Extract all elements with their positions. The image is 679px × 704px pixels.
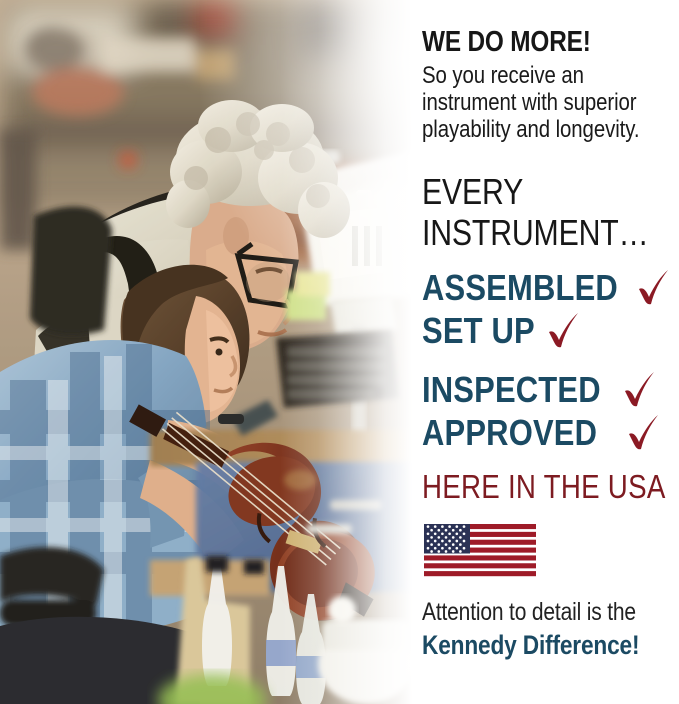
checklist-label-approved: APPROVED (422, 415, 597, 451)
every-instrument-line2: INSTRUMENT… (422, 215, 649, 251)
footer-line-attention: Attention to detail is the (422, 600, 636, 625)
headline-body-text: So you receive an instrument with superi… (422, 62, 679, 143)
check-mark-icon (622, 370, 656, 408)
checklist-label-inspected: INSPECTED (422, 372, 601, 408)
check-mark-icon (626, 413, 660, 451)
workshop-photo-illustration (0, 0, 430, 704)
every-instrument-line1: EVERY (422, 174, 523, 210)
headline-we-do-more: WE DO MORE! (422, 28, 591, 57)
footer-line-kennedy-difference: Kennedy Difference! (422, 632, 639, 659)
marketing-text-panel: WE DO MORE! So you receive an instrument… (422, 0, 679, 704)
checklist-item-inspected: INSPECTED (422, 372, 630, 412)
us-flag-graphic (424, 524, 536, 579)
checklist-label-set-up: SET UP (422, 313, 535, 349)
checklist-item-assembled: ASSEMBLED (422, 270, 650, 310)
here-in-the-usa-line: HERE IN THE USA (422, 470, 666, 503)
check-mark-icon (546, 311, 580, 349)
checklist-item-approved: APPROVED (422, 415, 626, 455)
poster-root: WE DO MORE! So you receive an instrument… (0, 0, 679, 704)
us-flag-icon (424, 524, 536, 579)
luthier-workshop-photo (0, 0, 430, 704)
checklist-label-assembled: ASSEMBLED (422, 270, 618, 306)
checklist-item-set-up: SET UP (422, 313, 553, 353)
check-mark-icon (636, 268, 670, 306)
